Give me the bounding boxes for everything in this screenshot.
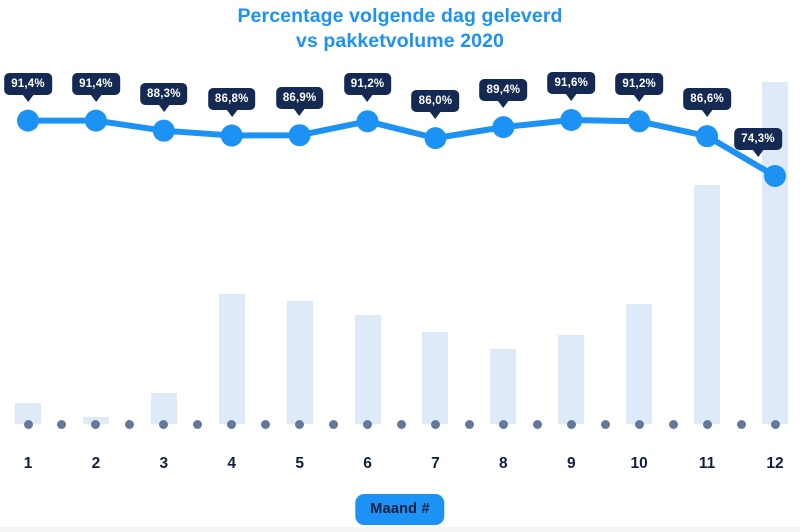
x-tick-7: 7 <box>431 455 440 473</box>
x-tick-11: 11 <box>699 455 715 473</box>
line-marker-month-12[interactable] <box>764 165 786 187</box>
line-marker-month-6[interactable] <box>357 110 379 132</box>
data-label-month-1: 91,4% <box>4 73 52 95</box>
data-label-month-4: 86,8% <box>208 88 256 110</box>
data-label-month-5: 86,9% <box>276 87 324 109</box>
data-label-month-8: 89,4% <box>480 79 528 101</box>
data-label-month-7: 86,0% <box>412 90 460 112</box>
line-marker-month-11[interactable] <box>696 125 718 147</box>
line-marker-month-5[interactable] <box>289 124 311 146</box>
line-marker-month-8[interactable] <box>492 116 514 138</box>
line-marker-month-4[interactable] <box>221 125 243 147</box>
x-tick-8: 8 <box>499 455 508 473</box>
data-label-month-6: 91,2% <box>344 73 392 95</box>
plot-area: 91,4%91,4%88,3%86,8%86,9%91,2%86,0%89,4%… <box>0 0 800 450</box>
x-axis-title: Maand # <box>355 494 444 525</box>
x-tick-4: 4 <box>227 455 236 473</box>
line-marker-month-1[interactable] <box>17 110 39 132</box>
x-tick-1: 1 <box>24 455 33 473</box>
x-tick-5: 5 <box>295 455 304 473</box>
line-marker-month-10[interactable] <box>628 110 650 132</box>
data-label-month-11: 86,6% <box>683 88 731 110</box>
x-tick-3: 3 <box>160 455 169 473</box>
data-label-month-2: 91,4% <box>72 73 120 95</box>
line-marker-month-2[interactable] <box>85 110 107 132</box>
x-tick-2: 2 <box>92 455 101 473</box>
x-tick-10: 10 <box>631 455 648 473</box>
x-tick-9: 9 <box>567 455 576 473</box>
data-label-month-9: 91,6% <box>547 72 595 94</box>
x-tick-12: 12 <box>766 455 783 473</box>
line-marker-month-9[interactable] <box>560 109 582 131</box>
data-label-month-12: 74,3% <box>734 128 782 150</box>
line-marker-month-3[interactable] <box>153 120 175 142</box>
bottom-strip <box>0 527 800 532</box>
data-label-month-3: 88,3% <box>140 83 188 105</box>
chart-canvas: Percentage volgende dag geleverd vs pakk… <box>0 0 800 532</box>
data-label-month-10: 91,2% <box>615 73 663 95</box>
x-tick-6: 6 <box>363 455 372 473</box>
line-series-layer <box>0 0 800 450</box>
line-marker-month-7[interactable] <box>424 127 446 149</box>
